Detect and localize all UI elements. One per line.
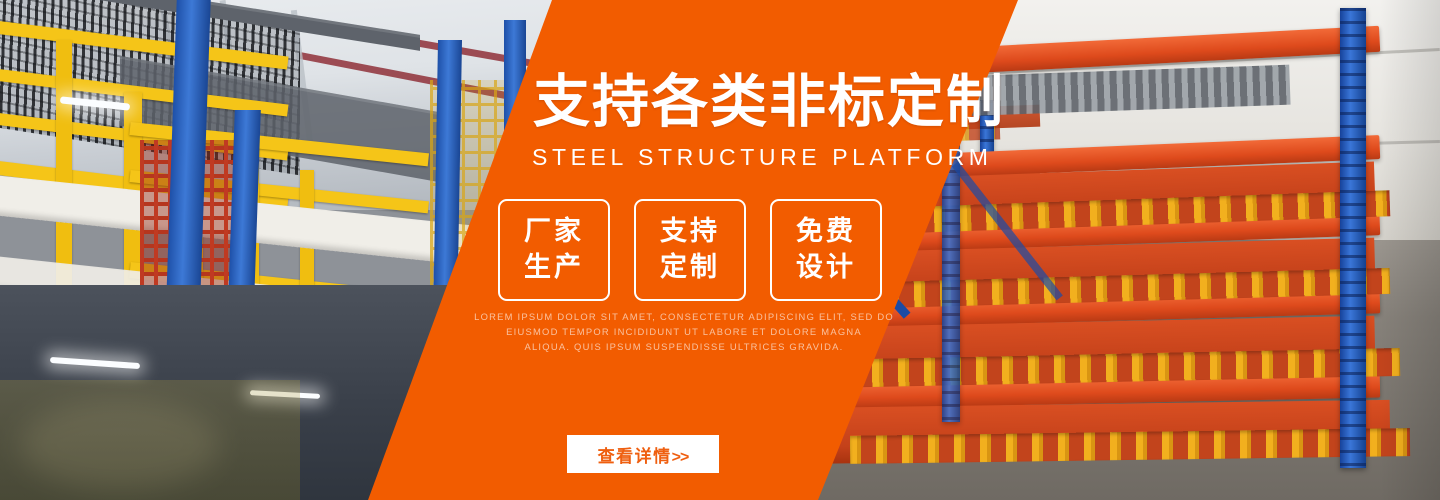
banner-content: 支持各类非标定制 STEEL STRUCTURE PLATFORM 厂家 生产 … (0, 0, 1440, 500)
promo-banner: 支持各类非标定制 STEEL STRUCTURE PLATFORM 厂家 生产 … (0, 0, 1440, 500)
feature-badge-line1: 免费 (796, 214, 856, 250)
description-line-3: ALIQUA. QUIS IPSUM SUSPENDISSE ULTRICES … (474, 340, 894, 355)
feature-badge-line1: 支持 (660, 214, 720, 250)
headline: 支持各类非标定制 (533, 74, 1005, 131)
subtitle: STEEL STRUCTURE PLATFORM (532, 144, 993, 171)
feature-badge-line2: 定制 (660, 250, 720, 286)
description-line-2: EIUSMOD TEMPOR INCIDIDUNT UT LABORE ET D… (474, 325, 894, 340)
feature-badge-manufacturer: 厂家 生产 (498, 199, 610, 301)
feature-badge-line2: 生产 (524, 250, 584, 286)
feature-badge-line1: 厂家 (524, 214, 584, 250)
feature-badge-free-design: 免费 设计 (770, 199, 882, 301)
double-chevron-right-icon: >> (672, 449, 689, 466)
description-line-1: LOREM IPSUM DOLOR SIT AMET, CONSECTETUR … (474, 310, 894, 325)
feature-badge-line2: 设计 (796, 250, 856, 286)
feature-badge-row: 厂家 生产 支持 定制 免费 设计 (498, 199, 882, 301)
feature-badge-customization: 支持 定制 (634, 199, 746, 301)
description-text: LOREM IPSUM DOLOR SIT AMET, CONSECTETUR … (474, 310, 894, 355)
view-details-text: 查看详情 (598, 447, 672, 466)
view-details-button[interactable]: 查看详情>> (567, 435, 719, 473)
view-details-label: 查看详情>> (598, 442, 689, 467)
